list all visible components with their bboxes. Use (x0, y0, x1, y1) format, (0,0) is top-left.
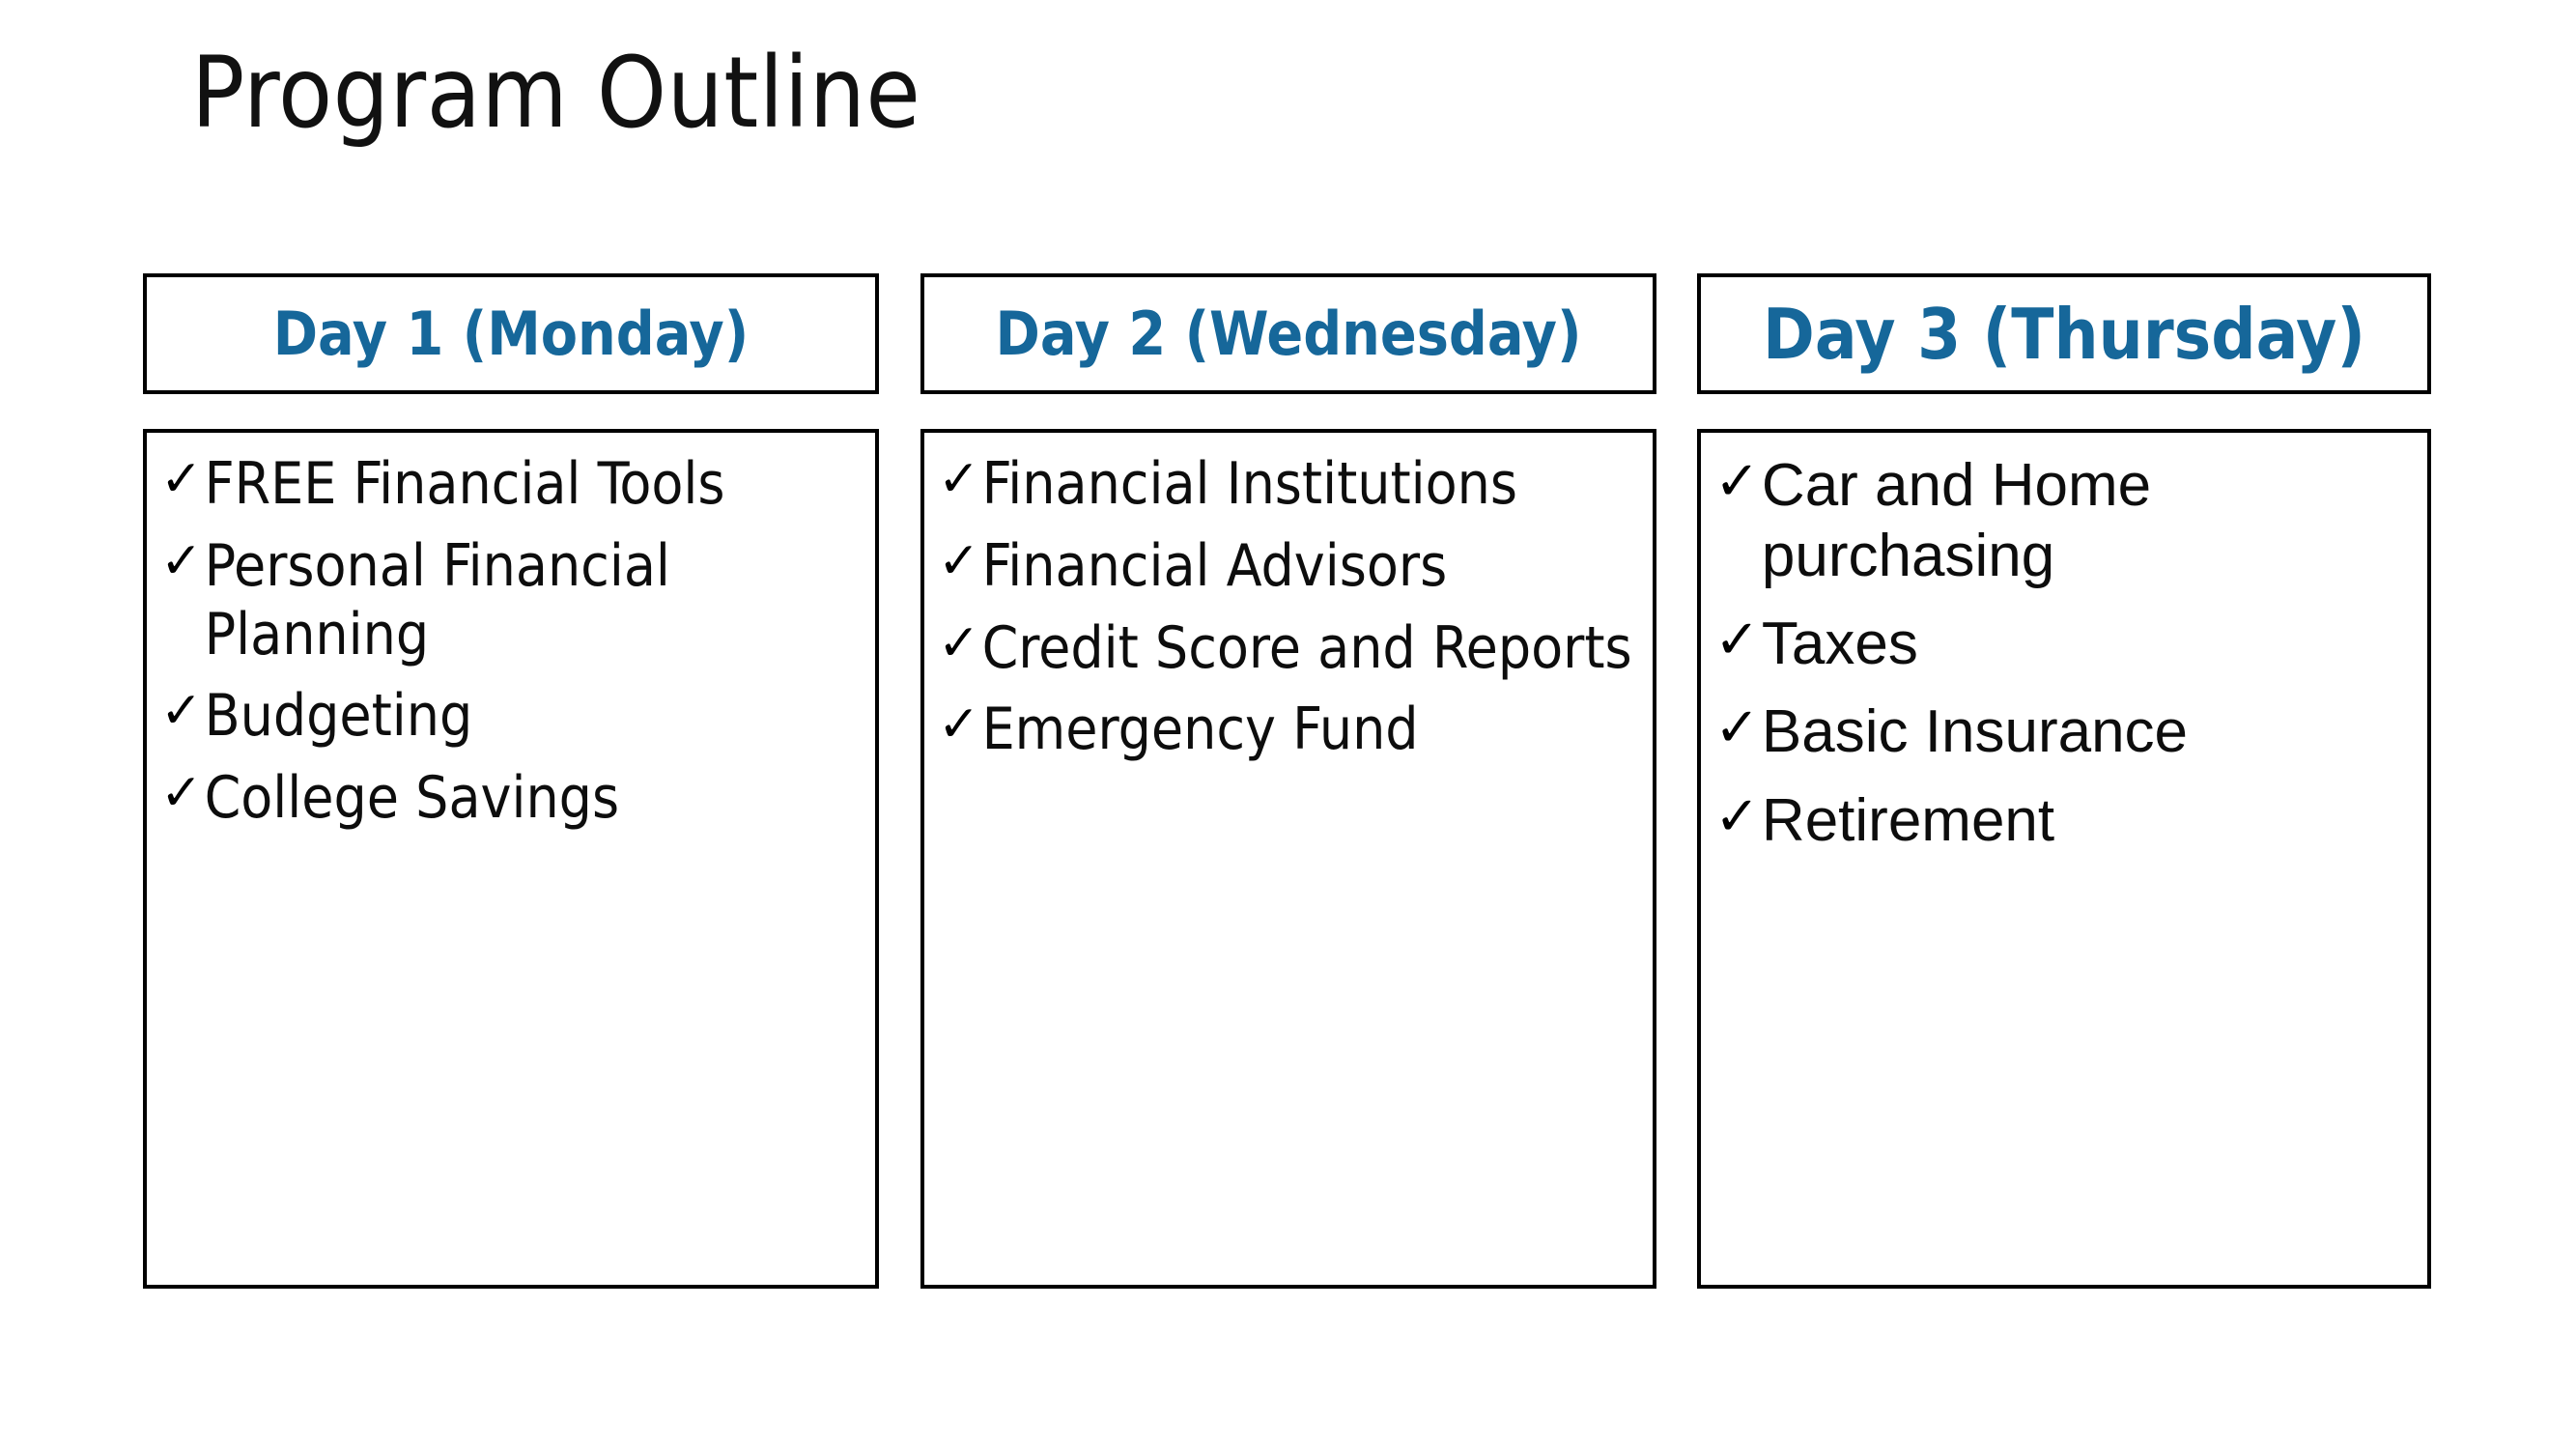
topic-list-day-3: ✓ Car and Home purchasing ✓ Taxes ✓ Basi… (1714, 450, 2414, 856)
list-item: ✓ Taxes (1714, 609, 2414, 679)
list-item: ✓ Budgeting (160, 682, 862, 751)
list-item: ✓ Financial Institutions (938, 450, 1639, 519)
list-item: ✓ FREE Financial Tools (160, 450, 862, 519)
list-item: ✓ Basic Insurance (1714, 696, 2414, 767)
column-body-day-3: ✓ Car and Home purchasing ✓ Taxes ✓ Basi… (1697, 429, 2431, 1289)
list-item: ✓ Emergency Fund (938, 696, 1639, 764)
outline-column-day-1: Day 1 (Monday) ✓ FREE Financial Tools ✓ … (143, 273, 879, 1289)
list-item-label: College Savings (205, 764, 862, 833)
checkmark-icon: ✓ (938, 614, 980, 673)
checkmark-icon: ✓ (1714, 609, 1760, 672)
list-item: ✓ Car and Home purchasing (1714, 450, 2414, 591)
checkmark-icon: ✓ (1714, 785, 1760, 849)
checkmark-icon: ✓ (1714, 450, 1760, 514)
topic-list-day-1: ✓ FREE Financial Tools ✓ Personal Financ… (160, 450, 862, 833)
outline-column-day-3: Day 3 (Thursday) ✓ Car and Home purchasi… (1697, 273, 2431, 1289)
list-item: ✓ Retirement (1714, 785, 2414, 856)
list-item: ✓ College Savings (160, 764, 862, 833)
column-header-label: Day 2 (Wednesday) (996, 304, 1582, 364)
checkmark-icon: ✓ (938, 532, 980, 591)
list-item-label: Financial Advisors (982, 532, 1639, 601)
checkmark-icon: ✓ (938, 696, 980, 754)
page-title: Program Outline (191, 39, 1737, 149)
column-header-label: Day 3 (Thursday) (1763, 299, 2365, 369)
checkmark-icon: ✓ (938, 450, 980, 509)
column-body-day-1: ✓ FREE Financial Tools ✓ Personal Financ… (143, 429, 879, 1289)
list-item: ✓ Financial Advisors (938, 532, 1639, 601)
checkmark-icon: ✓ (160, 532, 203, 591)
list-item-label: Budgeting (205, 682, 862, 751)
list-item-label: Taxes (1762, 609, 2414, 679)
list-item: ✓ Credit Score and Reports (938, 614, 1639, 683)
list-item-label: FREE Financial Tools (205, 450, 862, 519)
column-header-day-3: Day 3 (Thursday) (1697, 273, 2431, 394)
list-item-label: Financial Institutions (982, 450, 1639, 519)
checkmark-icon: ✓ (160, 682, 203, 741)
list-item-label: Personal Financial Planning (205, 532, 862, 669)
list-item-label: Retirement (1762, 785, 2414, 856)
outline-column-day-2: Day 2 (Wednesday) ✓ Financial Institutio… (920, 273, 1656, 1289)
checkmark-icon: ✓ (160, 764, 203, 823)
checkmark-icon: ✓ (160, 450, 203, 509)
list-item-label: Car and Home purchasing (1762, 450, 2414, 591)
column-body-day-2: ✓ Financial Institutions ✓ Financial Adv… (920, 429, 1656, 1289)
list-item-label: Basic Insurance (1762, 696, 2414, 767)
list-item-label: Emergency Fund (982, 696, 1639, 764)
column-header-label: Day 1 (Monday) (273, 304, 750, 364)
list-item: ✓ Personal Financial Planning (160, 532, 862, 669)
slide-canvas: Program Outline Day 1 (Monday) ✓ FREE Fi… (0, 0, 2576, 1449)
list-item-label: Credit Score and Reports (982, 614, 1639, 683)
column-header-day-2: Day 2 (Wednesday) (920, 273, 1656, 394)
column-header-day-1: Day 1 (Monday) (143, 273, 879, 394)
topic-list-day-2: ✓ Financial Institutions ✓ Financial Adv… (938, 450, 1639, 764)
checkmark-icon: ✓ (1714, 696, 1760, 760)
